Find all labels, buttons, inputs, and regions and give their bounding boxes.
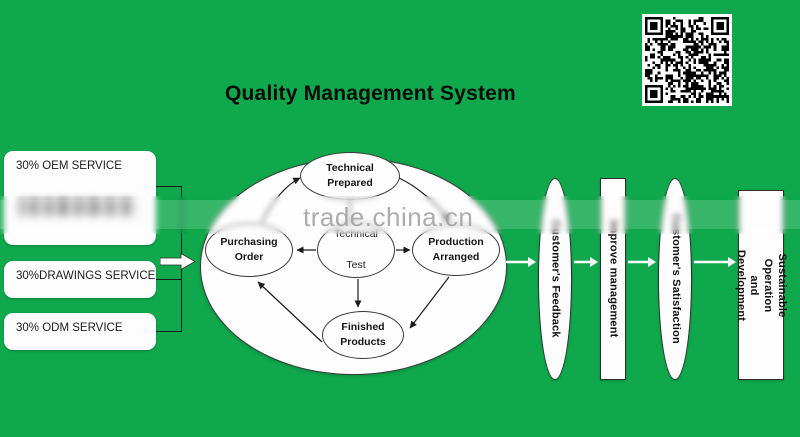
chain-customers-satisfaction: Customer's Satisfaction <box>658 178 692 380</box>
node-purchasing-order-label: PurchasingOrder <box>220 235 277 265</box>
block-arrow-to-process <box>160 253 196 270</box>
node-finished-products: FinishedProducts <box>322 311 404 359</box>
service-box-drawings: 30%DRAWINGS SERVICE <box>4 261 156 298</box>
node-production-arranged: ProductionArranged <box>412 224 500 276</box>
chain-sustainable-operation: Sustainable Operation and Development <box>738 190 784 380</box>
chain-customers-satisfaction-label: Customer's Satisfaction <box>668 214 682 344</box>
chain-improve-management-label: Improve management <box>606 220 620 337</box>
node-technical-prepared-label: TechnicalPrepared <box>326 161 374 191</box>
chain-improve-management: Improve management <box>600 178 626 380</box>
node-finished-products-label: FinishedProducts <box>340 320 386 350</box>
node-production-arranged-label: ProductionArranged <box>428 235 483 265</box>
connector-line-odm <box>156 331 182 332</box>
service-box-drawings-label: 30%DRAWINGS SERVICE <box>16 270 155 282</box>
blurred-text-line <box>18 198 140 216</box>
service-box-oem: 30% OEM SERVICE <box>4 151 156 245</box>
qr-code-image <box>645 17 729 103</box>
chain-customers-feedback-label: Customer's Feedback <box>548 220 562 338</box>
chain-sustainable-operation-label: Sustainable Operation and Development <box>734 249 789 320</box>
connector-line-drawings <box>156 279 182 280</box>
diagram-canvas: Quality Management System 30% OEM SERVIC… <box>0 0 800 437</box>
page-title: Quality Management System <box>225 82 516 106</box>
node-technical-test: Technical Test <box>317 222 395 278</box>
connector-line-oem <box>156 186 182 187</box>
service-box-odm: 30% ODM SERVICE <box>4 313 156 350</box>
node-purchasing-order: PurchasingOrder <box>205 223 293 277</box>
chain-customers-feedback: Customer's Feedback <box>538 178 572 380</box>
qr-code <box>642 14 732 106</box>
service-box-odm-label: 30% ODM SERVICE <box>16 322 123 334</box>
service-box-oem-label: 30% OEM SERVICE <box>16 160 122 172</box>
node-technical-test-label: Technical Test <box>334 227 378 273</box>
node-technical-prepared: TechnicalPrepared <box>300 152 400 200</box>
